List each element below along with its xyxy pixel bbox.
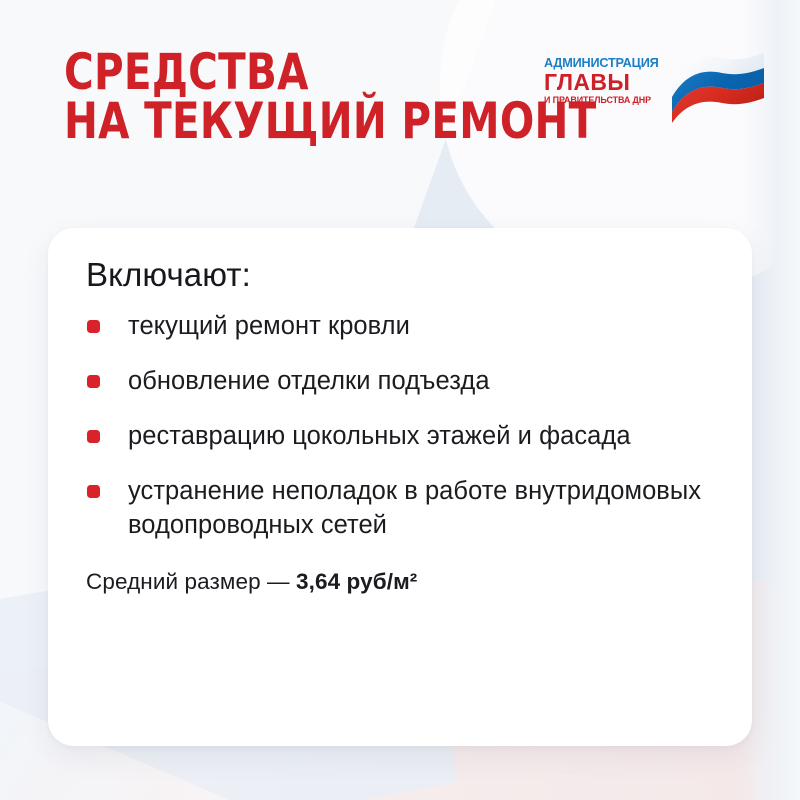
organization-logo: АДМИНИСТРАЦИЯ ГЛАВЫ И ПРАВИТЕЛЬСТВА ДНР — [544, 52, 764, 134]
logo-line-government: И ПРАВИТЕЛЬСТВА ДНР — [544, 96, 672, 105]
card-heading: Включают: — [86, 256, 710, 294]
bullet-square-icon — [87, 430, 100, 443]
inclusions-list: текущий ремонт кровли обновление отделки… — [86, 310, 710, 542]
russian-tricolor-flag-icon — [670, 52, 766, 129]
average-amount-note: Средний размер — 3,64 руб/м² — [86, 568, 710, 596]
list-item: реставрацию цокольных этажей и фасада — [86, 420, 710, 453]
list-item-label: текущий ремонт кровли — [128, 312, 410, 340]
content-card: Включают: текущий ремонт кровли обновлен… — [48, 228, 752, 746]
logo-line-head: ГЛАВЫ — [544, 70, 676, 95]
bullet-square-icon — [87, 485, 100, 498]
average-amount-label: Средний размер — — [86, 569, 296, 594]
average-amount-value: 3,64 руб/м² — [296, 569, 417, 594]
bullet-square-icon — [87, 375, 100, 388]
list-item: обновление отделки подъезда — [86, 365, 710, 398]
logo-line-administration: АДМИНИСТРАЦИЯ — [544, 56, 671, 69]
list-item: устранение неполадок в работе внутридомо… — [86, 475, 710, 541]
list-item: текущий ремонт кровли — [86, 310, 710, 343]
bullet-square-icon — [87, 320, 100, 333]
list-item-label: реставрацию цокольных этажей и фасада — [128, 422, 631, 450]
logo-wordmark: АДМИНИСТРАЦИЯ ГЛАВЫ И ПРАВИТЕЛЬСТВА ДНР — [544, 56, 676, 105]
list-item-label: устранение неполадок в работе внутридомо… — [128, 477, 701, 538]
list-item-label: обновление отделки подъезда — [128, 367, 490, 395]
poster-canvas: СРЕДСТВА НА ТЕКУЩИЙ РЕМОНТ АДМИНИСТРАЦИЯ… — [0, 0, 800, 800]
